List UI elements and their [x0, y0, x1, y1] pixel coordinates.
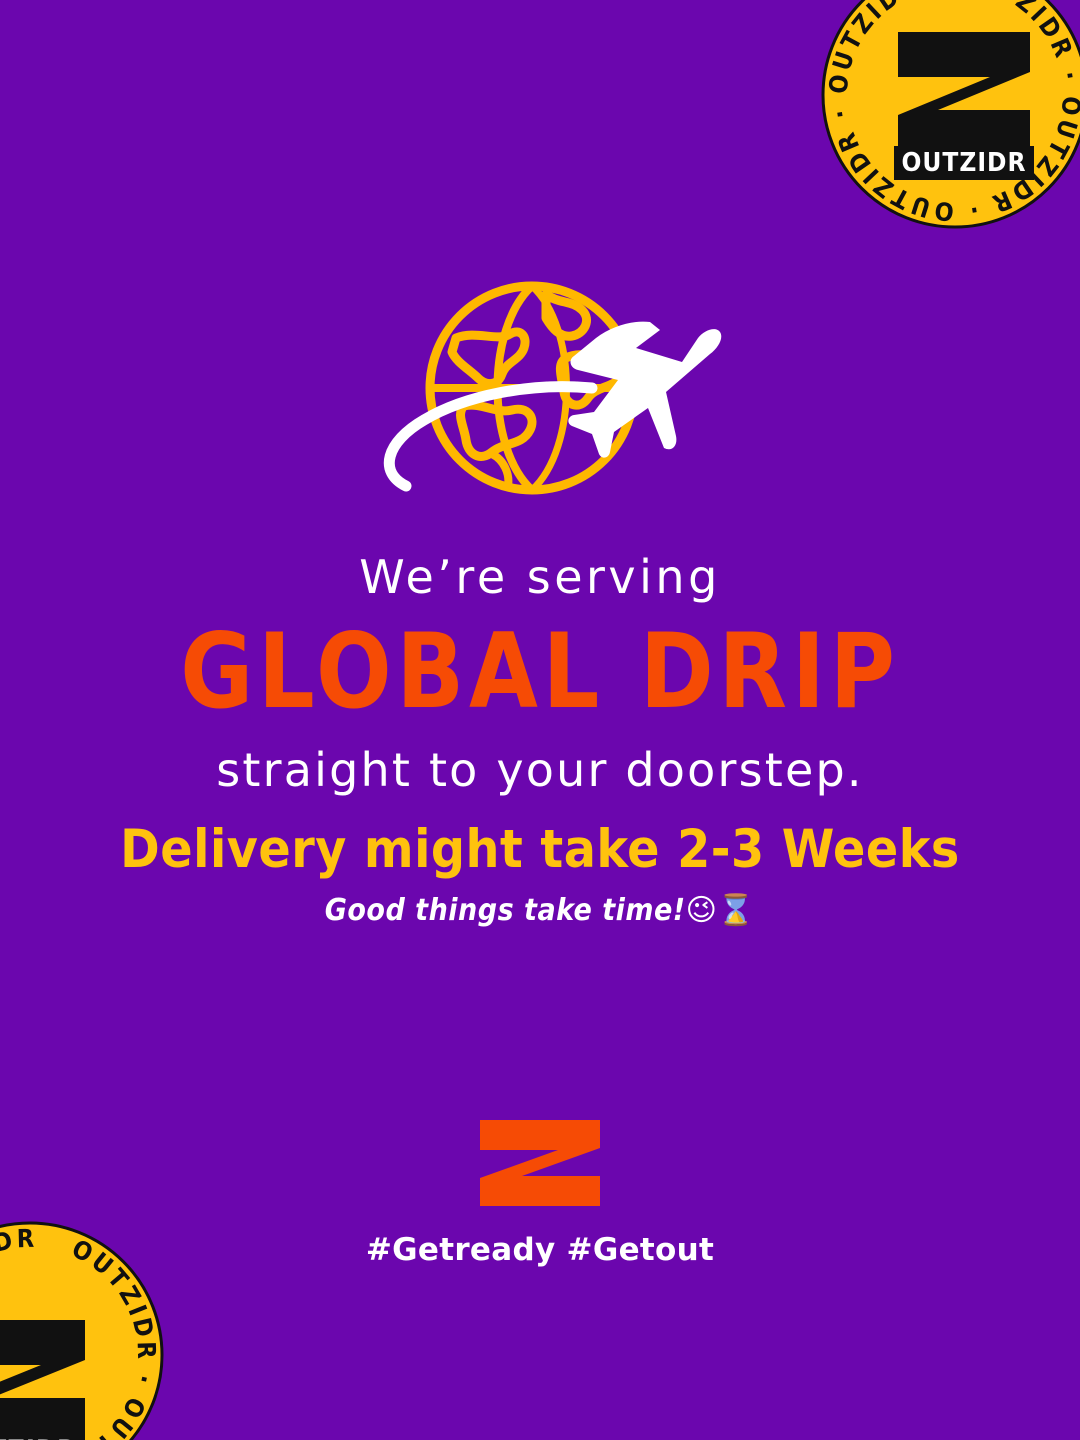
- hashtags-text: #Getready #Getout: [0, 1232, 1080, 1268]
- badge-wordmark: OUTZIDR: [0, 1432, 85, 1440]
- svg-text:OUTZIDR: OUTZIDR: [0, 1435, 77, 1440]
- badge-wordmark: OUTZIDR: [894, 146, 1034, 180]
- delivery-subnote: Good things take time!😉⌛: [0, 893, 1080, 929]
- delivery-notice-block: Delivery might take 2-3 Weeks Good thing…: [0, 820, 1080, 929]
- globe-with-airplane-icon: [360, 276, 720, 516]
- delivery-subnote-text: Good things take time!: [325, 893, 686, 928]
- outzidr-z-mark: [478, 1118, 602, 1208]
- subhead-text: straight to your doorstep.: [0, 745, 1080, 796]
- footer-block: #Getready #Getout: [0, 1118, 1080, 1268]
- svg-text:OUTZIDR: OUTZIDR: [902, 148, 1027, 178]
- page-title: GLOBAL DRIP: [22, 610, 1059, 736]
- eyebrow-text: We’re serving: [0, 552, 1080, 604]
- delivery-subnote-emoji: 😉⌛: [686, 893, 756, 928]
- delivery-notice-text: Delivery might take 2-3 Weeks: [0, 820, 1080, 881]
- poster-canvas: OUTZIDR · OUTZIDR · OUTZIDR · OUTZIDR · …: [0, 0, 1080, 1440]
- headline-copy-block: We’re serving GLOBAL DRIP straight to yo…: [0, 552, 1080, 796]
- outzidr-badge-top-right: OUTZIDR · OUTZIDR · OUTZIDR · OUTZIDR · …: [820, 0, 1080, 230]
